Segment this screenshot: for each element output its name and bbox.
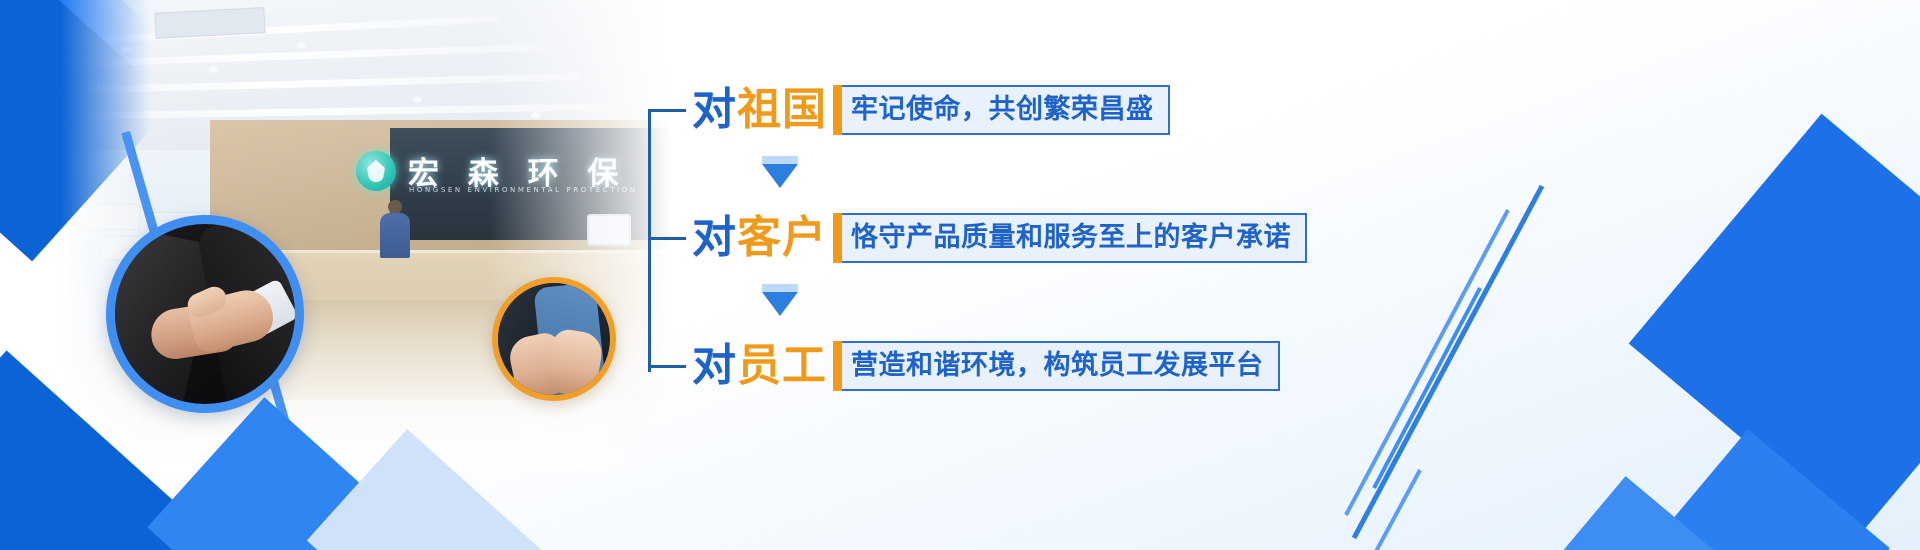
ceiling-strip [60, 73, 580, 94]
ceiling-downlight [296, 42, 307, 49]
ceiling-downlight [208, 66, 219, 73]
chevron-down-icon [762, 164, 798, 188]
company-logo-subtext: HONGSEN ENVIRONMENTAL PROTECTION [409, 186, 638, 194]
ceiling-downlight [412, 96, 423, 103]
arrow-cap-icon [762, 156, 798, 164]
value-statement-employee: 营造和谐环境，构筑员工发展平台 [833, 341, 1280, 391]
chevron-down-icon [762, 292, 798, 316]
applause-photo-inner [498, 283, 610, 395]
value-subject: 祖国 [737, 88, 827, 132]
value-statement-customer: 恪守产品质量和服务至上的客户承诺 [833, 213, 1307, 263]
ceiling-vent-panel [154, 7, 265, 39]
lobby-ceiling [60, 0, 680, 215]
receptionist-head [388, 200, 402, 214]
value-row-country: 对 祖国 牢记使命，共创繁荣昌盛 [648, 82, 1170, 138]
handshake-photo [106, 215, 304, 413]
value-statement-country: 牢记使命，共创繁荣昌盛 [833, 85, 1170, 135]
company-logo-text: 宏 森 环 保 [408, 148, 627, 193]
ceiling-downlight [530, 112, 541, 119]
applause-photo [492, 277, 616, 401]
value-prefix: 对 [692, 344, 737, 388]
receptionist-body [380, 213, 410, 258]
value-row-customer: 对 客户 恪守产品质量和服务至上的客户承诺 [648, 210, 1307, 266]
reception-signage-wall [390, 128, 680, 240]
handshake-photo-inner [115, 224, 295, 404]
value-subject: 员工 [737, 344, 827, 388]
values-list: 对 祖国 牢记使命，共创繁荣昌盛 对 客户 恪守产品质量和服务至上的客户承诺 对… [648, 76, 1348, 396]
corporate-values-banner: 宏 森 环 保 HONGSEN ENVIRONMENTAL PROTECTION [0, 0, 1920, 550]
decor-diagonal-lines-right [1270, 170, 1600, 550]
value-heading-customer: 对 客户 [692, 216, 827, 260]
ceiling-strip [60, 103, 620, 120]
row-tick-icon [648, 365, 686, 368]
value-heading-employee: 对 员工 [692, 344, 827, 388]
row-tick-icon [648, 237, 686, 240]
receptionist-figure [378, 200, 412, 258]
ceiling-downlight [120, 46, 131, 53]
row-tick-icon [648, 109, 686, 112]
value-prefix: 对 [692, 88, 737, 132]
ceiling-strip [70, 44, 540, 67]
value-subject: 客户 [737, 216, 827, 260]
leaf-globe-icon [356, 151, 396, 191]
arrow-cap-icon [762, 284, 798, 292]
value-prefix: 对 [692, 216, 737, 260]
ceiling-strip [80, 15, 500, 44]
lobby-shelf [78, 204, 140, 230]
value-row-employee: 对 员工 营造和谐环境，构筑员工发展平台 [648, 338, 1280, 394]
value-heading-country: 对 祖国 [692, 88, 827, 132]
reception-monitor [587, 214, 631, 246]
